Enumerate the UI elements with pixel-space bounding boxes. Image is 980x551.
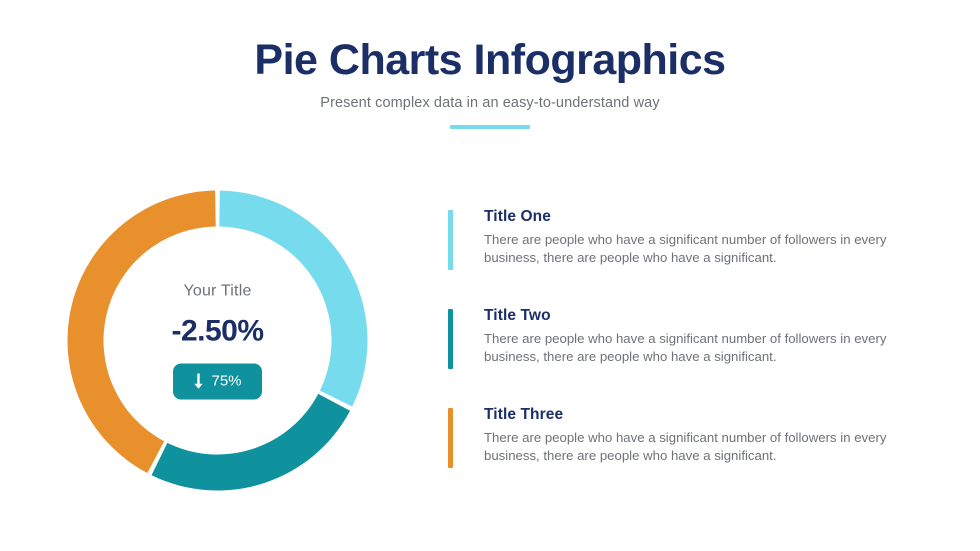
donut-center-badge[interactable]: 75% bbox=[173, 363, 262, 399]
page-title: Pie Charts Infographics bbox=[0, 38, 980, 84]
page-subtitle: Present complex data in an easy-to-under… bbox=[0, 95, 980, 111]
slide-header: Pie Charts Infographics Present complex … bbox=[0, 38, 980, 129]
donut-center-value: -2.50% bbox=[113, 314, 323, 348]
list-item-title: Title Two bbox=[484, 307, 948, 325]
list-item[interactable]: Title Two There are people who have a si… bbox=[448, 307, 948, 367]
list-item-accent-bar bbox=[448, 309, 453, 369]
donut-segment-title-two[interactable] bbox=[152, 394, 351, 491]
slide-canvas: Pie Charts Infographics Present complex … bbox=[0, 0, 980, 551]
donut-chart: Your Title -2.50% 75% bbox=[67, 190, 368, 491]
legend-list: Title One There are people who have a si… bbox=[448, 208, 948, 466]
header-accent-rule bbox=[450, 125, 530, 129]
list-item[interactable]: Title One There are people who have a si… bbox=[448, 208, 948, 268]
list-item-body: There are people who have a significant … bbox=[484, 330, 936, 366]
list-item[interactable]: Title Three There are people who have a … bbox=[448, 406, 948, 466]
donut-center-title: Your Title bbox=[113, 282, 323, 300]
list-item-title: Title Three bbox=[484, 406, 948, 424]
list-item-accent-bar bbox=[448, 210, 453, 270]
arrow-down-icon bbox=[193, 373, 204, 389]
list-item-title: Title One bbox=[484, 208, 948, 226]
donut-center-content: Your Title -2.50% 75% bbox=[113, 282, 323, 399]
list-item-accent-bar bbox=[448, 408, 453, 468]
list-item-body: There are people who have a significant … bbox=[484, 429, 936, 465]
donut-badge-value: 75% bbox=[211, 373, 241, 390]
list-item-body: There are people who have a significant … bbox=[484, 231, 936, 267]
